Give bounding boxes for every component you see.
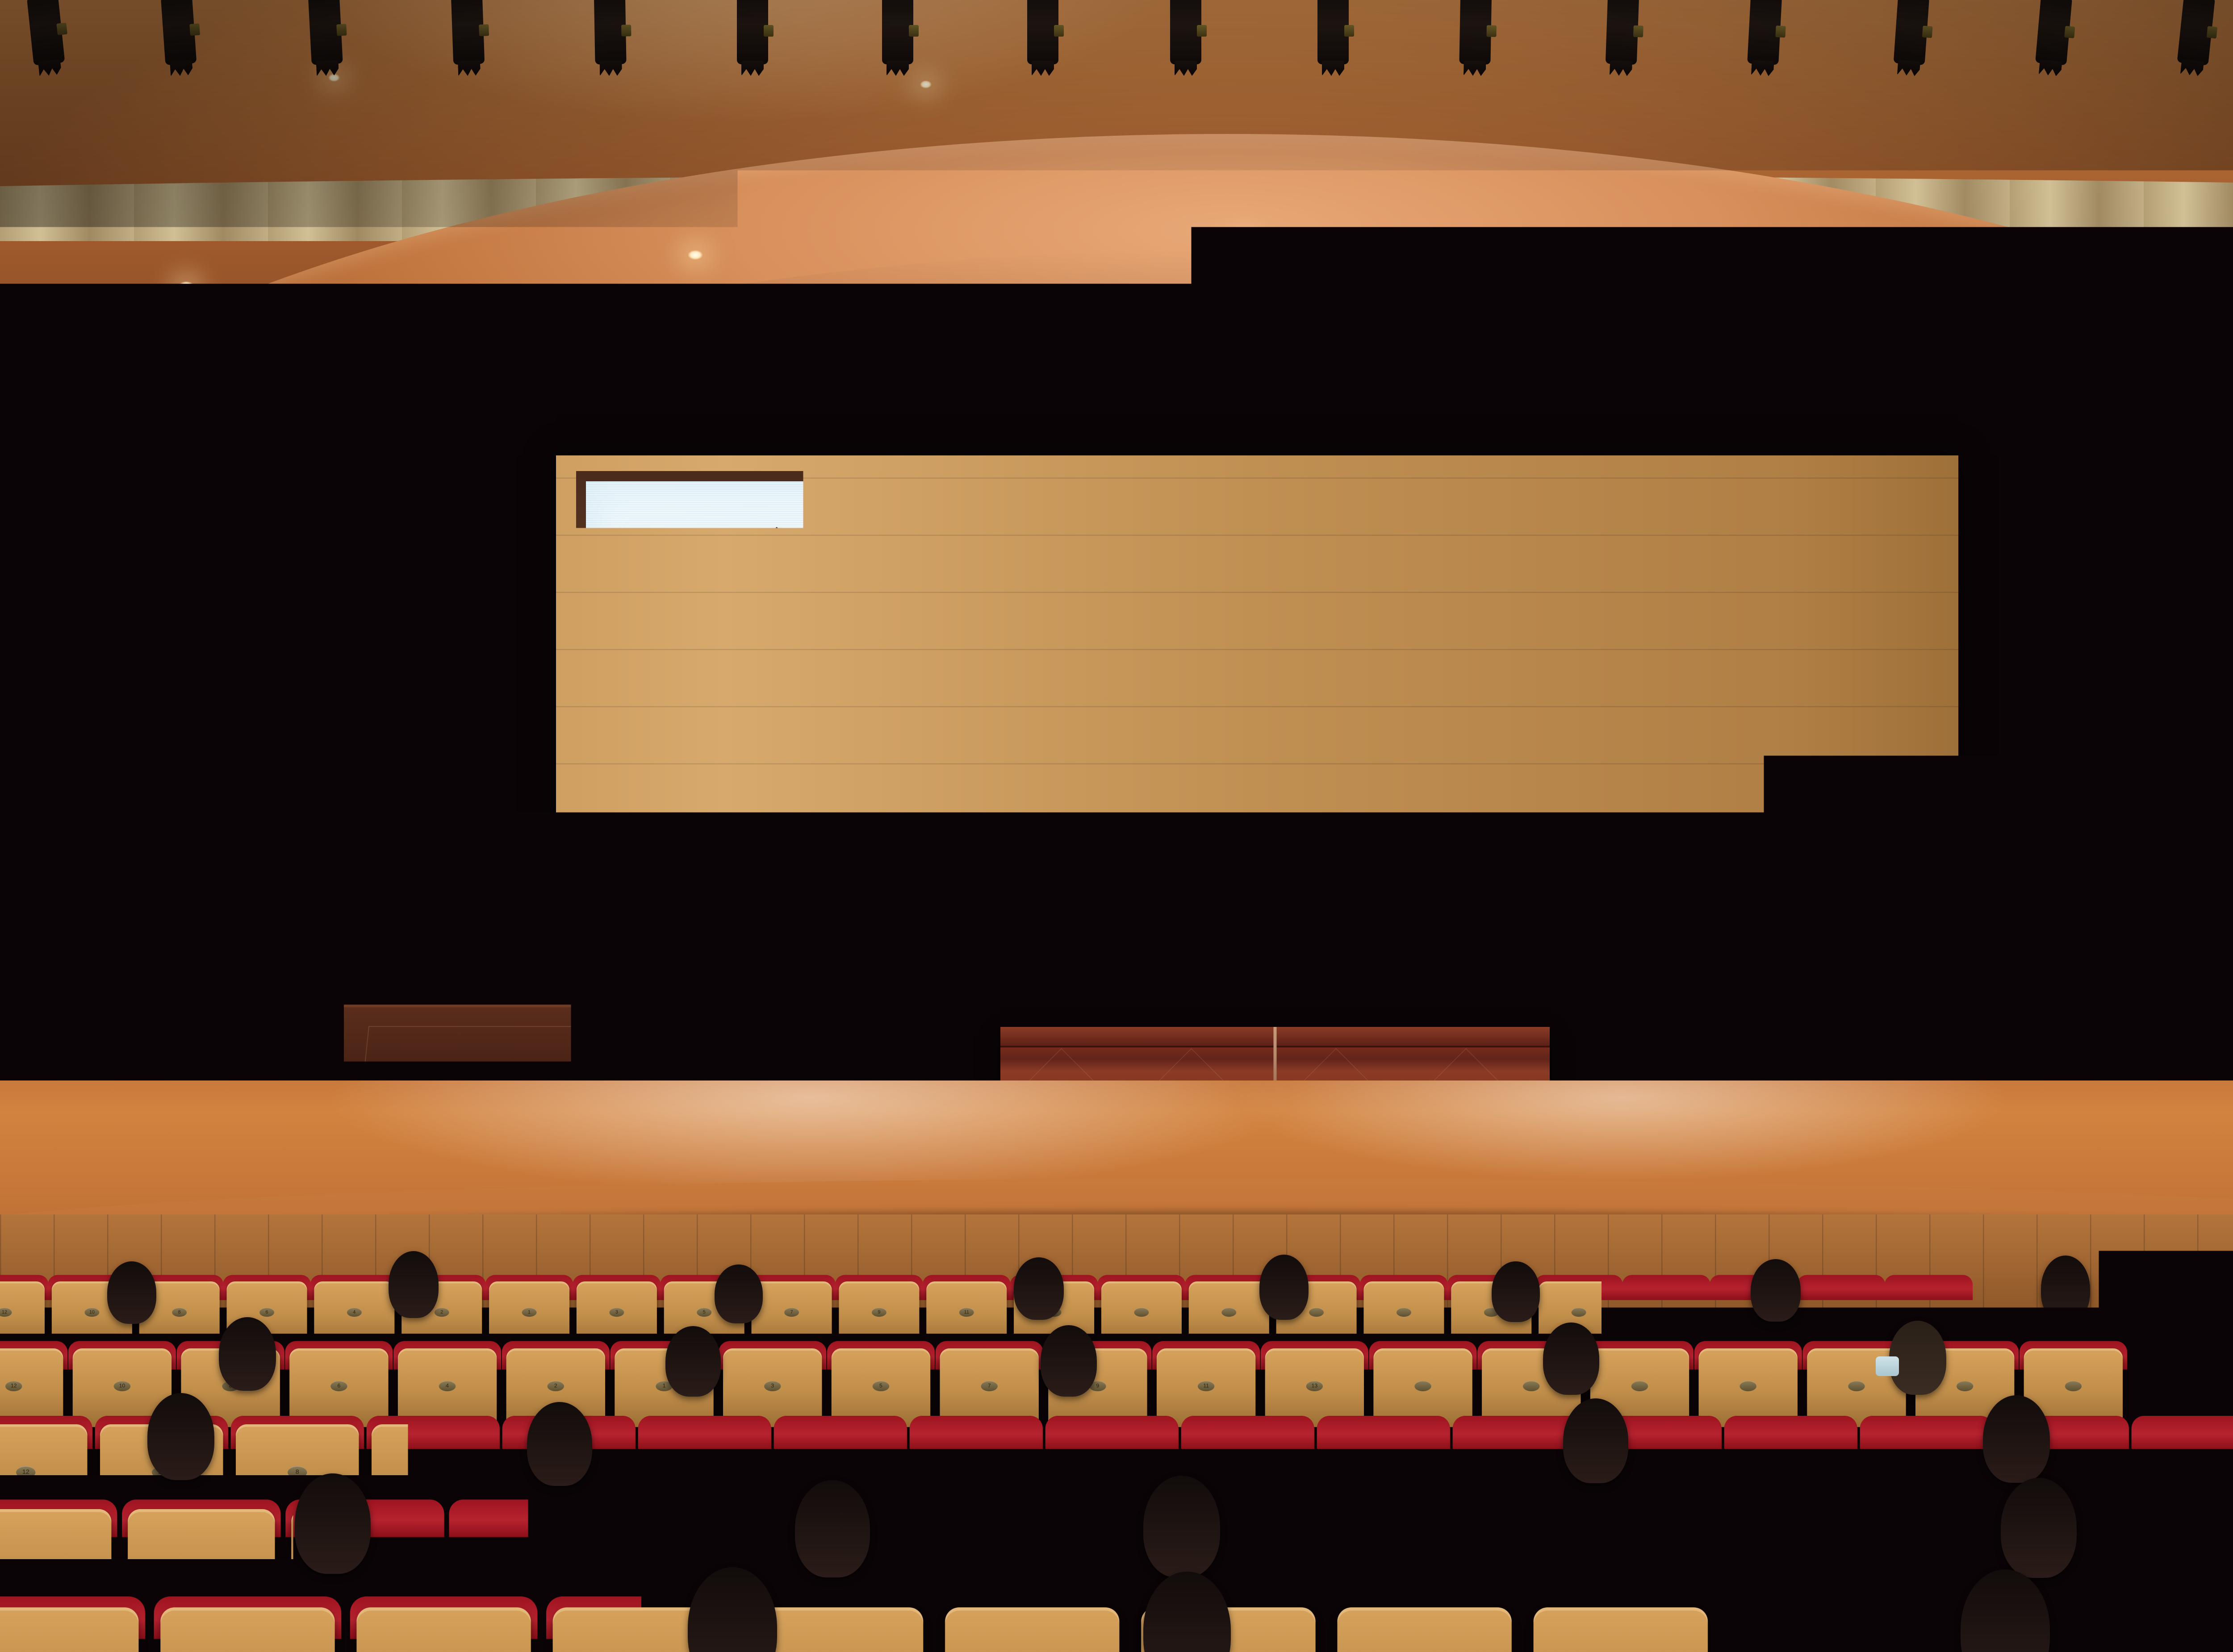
ceiling-downlight <box>179 281 194 291</box>
seat[interactable] <box>2122 1607 2233 1652</box>
seat-number <box>1414 1381 1431 1391</box>
audience-head <box>665 1326 721 1397</box>
stage-light-fixture <box>594 0 627 65</box>
seat[interactable]: 5 <box>1337 1607 1511 1652</box>
seat[interactable] <box>1373 1348 1472 1427</box>
seat[interactable]: 10 <box>0 1607 138 1652</box>
audience-head <box>147 1393 214 1480</box>
stage-light-fixture <box>1606 0 1639 65</box>
audience-head <box>107 1261 156 1324</box>
seat[interactable]: 7 <box>752 1281 832 1346</box>
slide-main-title: 2021年干部培训开班仪式 <box>586 661 1926 813</box>
seat-number: 1 <box>522 1308 536 1317</box>
seat-number <box>1397 1308 1411 1317</box>
seat-number: 7 <box>981 1381 998 1391</box>
stage-light-fixture <box>161 0 197 65</box>
seat-number <box>1309 1308 1324 1317</box>
seat-number: 2 <box>547 1381 564 1391</box>
seat[interactable]: 12 <box>0 1348 63 1427</box>
audience-head <box>2184 1317 2233 1392</box>
audience-head <box>1259 1255 1309 1320</box>
seat-number: 5 <box>1102 1466 1122 1478</box>
seat-number: 8 <box>172 1308 187 1317</box>
seat-number: 3 <box>966 1466 986 1478</box>
person-hair <box>1341 934 1411 988</box>
audience-head <box>1563 1398 1628 1483</box>
seat-row: 10 8 6 4 2 1 3 5 7 9 11 <box>0 1607 2233 1652</box>
seat-number: 12 <box>16 1466 36 1478</box>
seal-mark-right: 印 <box>1501 588 1518 605</box>
seat-number: 10 <box>114 1381 131 1391</box>
seat-number: 11 <box>959 1308 974 1317</box>
stage-light-fixture <box>737 0 768 64</box>
seat-number: 7 <box>784 1308 799 1317</box>
stage-light-fixture <box>308 0 343 65</box>
seat[interactable]: 4 <box>314 1281 394 1346</box>
seat-number: 6 <box>423 1466 443 1478</box>
seat-number: 8 <box>288 1466 307 1478</box>
audience-head <box>715 1264 763 1323</box>
seat-number: 7 <box>1498 1561 1521 1575</box>
seat-number: 5 <box>873 1381 890 1391</box>
seat-number: 9 <box>1374 1466 1393 1478</box>
seat[interactable]: 6 <box>289 1348 388 1427</box>
seat[interactable]: 12 <box>0 1281 45 1346</box>
face-mask <box>1876 1356 1899 1376</box>
audience-head <box>389 1251 439 1318</box>
seat[interactable]: 4 <box>398 1348 497 1427</box>
audience-head <box>1143 1476 1220 1577</box>
stage-speaker-cabinet <box>344 1005 607 1112</box>
auditorium-seating: 12 10 8 6 4 2 1 3 5 7 9 11 13 <box>0 1214 2233 1652</box>
seat[interactable] <box>1626 1281 1706 1346</box>
seat-number <box>1848 1381 1865 1391</box>
green-marker-square <box>960 781 972 790</box>
seat-number <box>1921 1308 1936 1317</box>
led-screen[interactable]: School of Communications jtb JIANGSU WUX… <box>586 481 1926 1078</box>
seat-number <box>1917 1466 1936 1478</box>
seat-number <box>2152 1561 2174 1575</box>
seat-number <box>1957 1381 1974 1391</box>
seat-number: 5 <box>1335 1561 1357 1575</box>
seat-number <box>2065 1381 2082 1391</box>
seat-number: 10 <box>190 1561 213 1575</box>
seat-number: 12 <box>5 1381 22 1391</box>
seat[interactable]: 1 <box>945 1607 1119 1652</box>
seat-number: 11 <box>1825 1561 1848 1575</box>
seat-number: 12 <box>0 1308 12 1317</box>
audience-head <box>1014 1257 1064 1320</box>
audience-head <box>1148 1392 1215 1481</box>
school-logo: jtb JIANGSU WUXI JIAOTONG HIGHER VOCATIO… <box>641 530 738 598</box>
stage-light-fixture <box>1747 0 1782 65</box>
seat-number: 4 <box>439 1381 456 1391</box>
seat-number: 1 <box>831 1466 850 1478</box>
auditorium-scene: School of Communications jtb JIANGSU WUX… <box>0 0 2233 1652</box>
seat[interactable]: 7 <box>940 1348 1038 1427</box>
seat-number: 13 <box>1645 1466 1665 1478</box>
seat-number <box>1834 1308 1848 1317</box>
stage-light-fixture <box>1170 0 1201 64</box>
audience-head <box>1751 1259 1801 1322</box>
seat-number: 6 <box>259 1308 274 1317</box>
audience-head <box>527 1402 592 1486</box>
seat-number <box>1572 1308 1586 1317</box>
seat-number <box>1740 1381 1756 1391</box>
seat[interactable]: 11 <box>926 1281 1007 1346</box>
ceiling-downlight <box>688 250 703 260</box>
seat-number <box>1221 1308 1236 1317</box>
stage-light-fixture <box>27 0 65 66</box>
audience-head <box>2001 1478 2077 1578</box>
stage-light-fixture <box>451 0 485 65</box>
seat-number: 6 <box>330 1381 347 1391</box>
seat-number: 3 <box>764 1381 781 1391</box>
seat[interactable]: 7 <box>1534 1607 1708 1652</box>
seat-number: 9 <box>872 1308 887 1317</box>
person-hair <box>1100 925 1164 968</box>
ceiling-downlight <box>1237 239 1252 249</box>
seat-number <box>1631 1381 1648 1391</box>
seat-number <box>1781 1466 1801 1478</box>
stage-light-fixture <box>1459 0 1492 65</box>
seat-number: 13 <box>1306 1381 1323 1391</box>
stage-light-fixture <box>1027 0 1058 64</box>
seat-number: 11 <box>1198 1381 1215 1391</box>
stage-curtain-right <box>2135 420 2233 1170</box>
seat-number: 6 <box>517 1561 539 1575</box>
seat-number: 9 <box>1662 1561 1684 1575</box>
logo-ring-text-top: JIANGSU WUXI JIAOTONG <box>641 531 738 538</box>
seat-number <box>2053 1466 2072 1478</box>
audience-head <box>1543 1322 1599 1395</box>
seat[interactable] <box>1699 1348 1798 1427</box>
lectern-body <box>232 915 290 1103</box>
ceiling-downlight <box>920 80 932 88</box>
lectern-base <box>220 1092 305 1106</box>
school-name-calligraphy: 江苏省无锡交通高等职业技术学校 <box>746 528 1760 595</box>
stage-light-fixture <box>882 0 913 64</box>
seat-row: 12 10 8 6 4 2 1 3 5 7 9 11 13 <box>0 1281 1969 1346</box>
seat-number <box>1134 1308 1149 1317</box>
seat-number: 2 <box>435 1308 449 1317</box>
stage-light-fixture <box>1894 0 1929 65</box>
seat[interactable]: 13 <box>1265 1348 1364 1427</box>
logo-ring-text-bottom: HIGHER VOCATIONAL TECHNICAL SCHOOL <box>641 584 738 598</box>
audience-head <box>795 1480 870 1577</box>
audience-head <box>1492 1261 1540 1322</box>
seat-number: 1 <box>1008 1561 1030 1575</box>
seat[interactable] <box>1101 1281 1182 1346</box>
seat[interactable] <box>1363 1281 1444 1346</box>
seat-number <box>2188 1466 2208 1478</box>
seat[interactable]: 6 <box>356 1607 531 1652</box>
stage-light-fixture <box>1317 0 1349 64</box>
audience-head <box>219 1317 276 1391</box>
audience-head <box>1983 1395 2050 1483</box>
seat-number <box>1659 1308 1673 1317</box>
seat[interactable]: 9 <box>839 1281 919 1346</box>
stage-light-fixture <box>2035 0 2072 65</box>
seat-number: 4 <box>681 1561 703 1575</box>
seat[interactable]: 3 <box>723 1348 822 1427</box>
seat-number: 2 <box>695 1466 715 1478</box>
ceiling-downlight <box>1769 252 1784 262</box>
screen-watermark-text: School of Communications <box>969 955 1543 1001</box>
seat-number: 5 <box>697 1308 711 1317</box>
lectern-top <box>211 912 311 927</box>
logo-glyph: jtb <box>673 538 705 588</box>
seat[interactable]: 5 <box>832 1348 930 1427</box>
seat[interactable]: 1 <box>489 1281 569 1346</box>
seat[interactable]: 8 <box>160 1607 335 1652</box>
seat-number: 3 <box>609 1308 624 1317</box>
seat[interactable]: 3 <box>577 1281 657 1346</box>
audience-head <box>295 1473 371 1574</box>
seat[interactable]: 9 <box>1730 1607 1904 1652</box>
audience-head <box>2041 1256 2090 1322</box>
title-blue-band: 2021年干部培训开班仪式 <box>586 661 1926 813</box>
seat-number: 7 <box>1238 1466 1258 1478</box>
seat-number: 10 <box>84 1308 99 1317</box>
seat-number: 11 <box>1510 1466 1529 1478</box>
seat-number: 12 <box>27 1561 49 1575</box>
seat[interactable] <box>1189 1281 1269 1346</box>
seat-number: 4 <box>347 1308 362 1317</box>
seat-number <box>1523 1381 1540 1391</box>
seat[interactable] <box>1801 1281 1882 1346</box>
audience-head <box>1041 1325 1097 1397</box>
slide-date: 2021年9月 <box>586 856 1926 931</box>
